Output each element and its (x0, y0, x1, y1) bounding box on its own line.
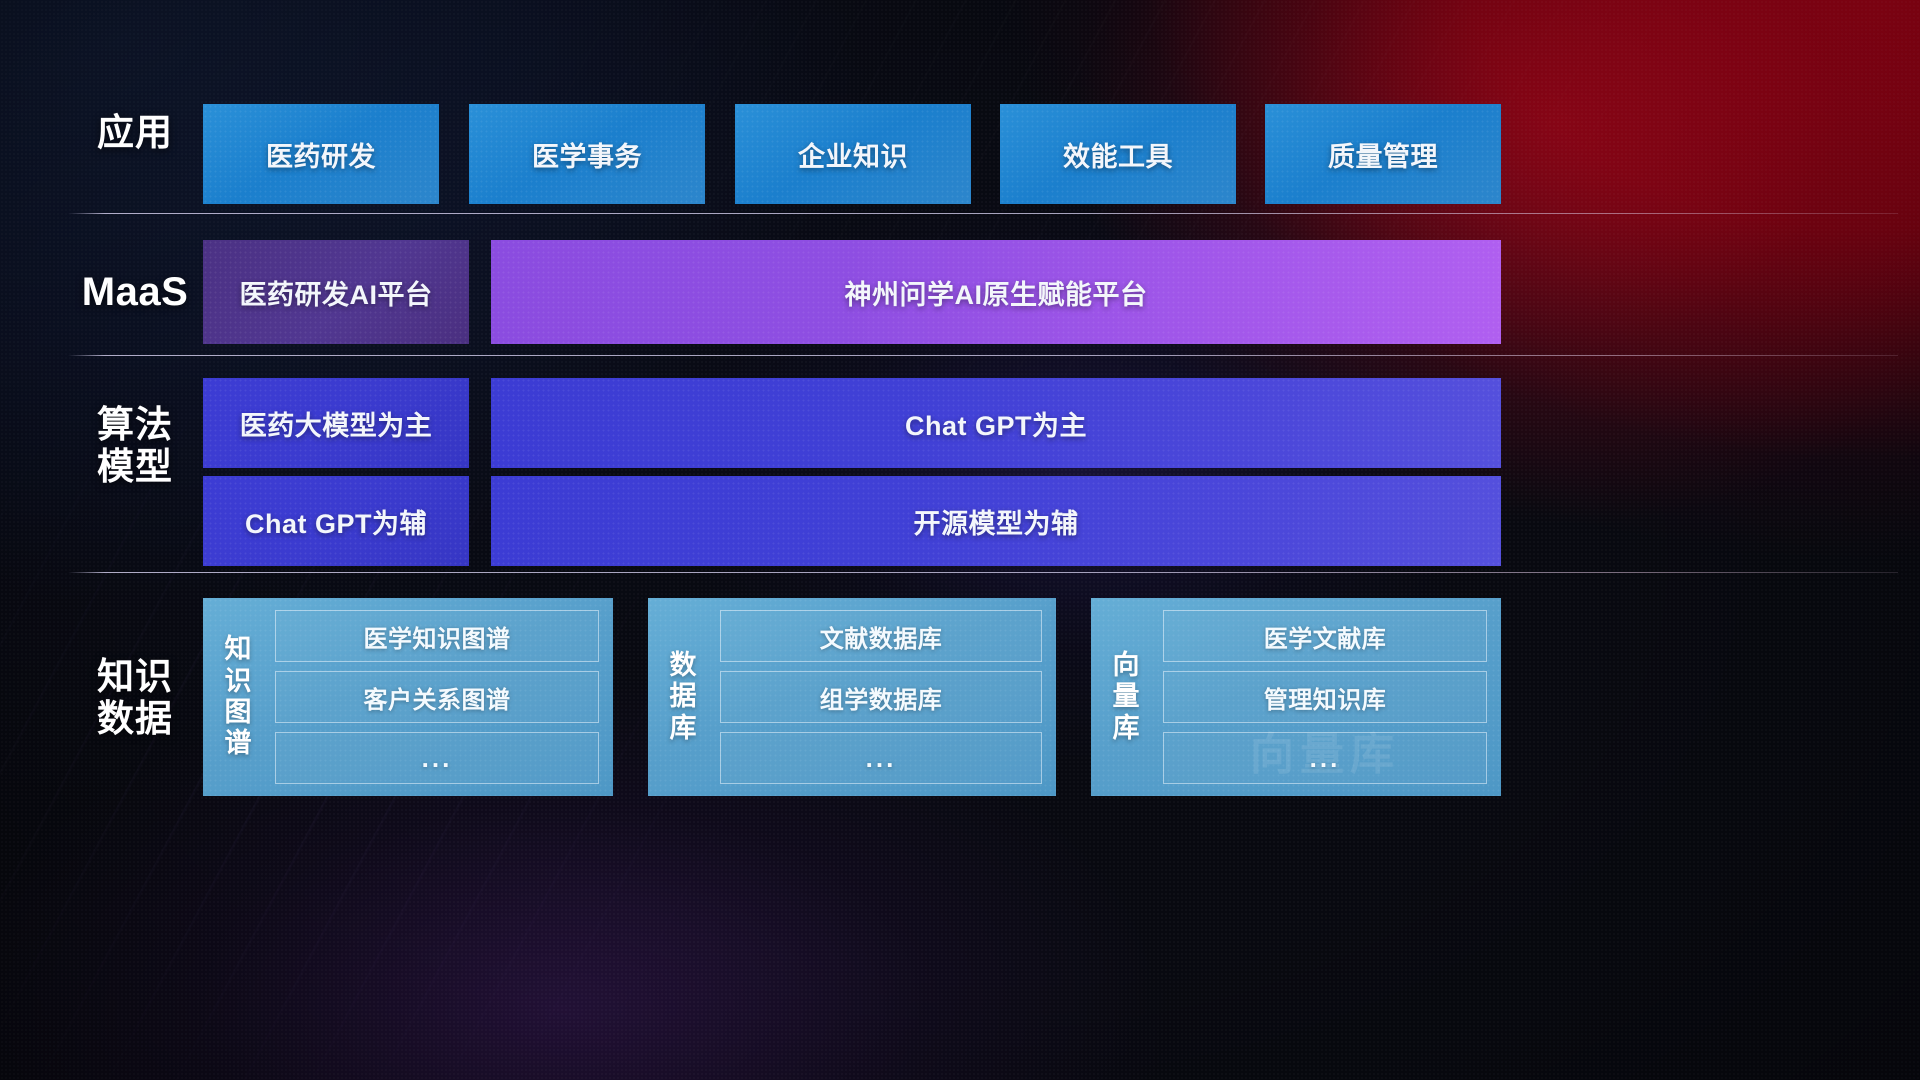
scenario-label-5: 质量管理 (1328, 135, 1438, 174)
row-divider-2 (68, 355, 1898, 356)
knowledge-group-title-2: 数 据 库 (660, 610, 706, 784)
row-divider-3 (68, 572, 1898, 573)
knowledge-group-items-3: 医学文献库 管理知识库 ... (1163, 610, 1487, 784)
maas-left-label: 医药研发AI平台 (240, 273, 433, 312)
maas-right-label: 神州问学AI原生赋能平台 (845, 273, 1148, 312)
scenario-label-3: 企业知识 (798, 135, 908, 174)
row-label-application-scenarios: 应用 (70, 112, 200, 154)
knowledge-item-2-1[interactable]: 文献数据库 (720, 610, 1042, 662)
scenario-box-3[interactable]: 企业知识 (735, 104, 971, 204)
scenario-box-2[interactable]: 医学事务 (469, 104, 705, 204)
scenario-label-4: 效能工具 (1063, 135, 1173, 174)
knowledge-item-3-1[interactable]: 医学文献库 (1163, 610, 1487, 662)
kg-title-char-3: 图 (225, 697, 252, 728)
knowledge-group-items-2: 文献数据库 组学数据库 ... (720, 610, 1042, 784)
algorithm-label-primary-left: 医药大模型为主 (240, 404, 433, 443)
kg-title-char-2: 识 (225, 666, 252, 697)
scenario-box-1[interactable]: 医药研发 (203, 104, 439, 204)
row-label-algorithm-model: 算法 模型 (70, 404, 200, 488)
row-label-maas: MaaS (70, 270, 200, 316)
vs-title-char-1: 向 (1113, 650, 1140, 681)
knowledge-group-knowledge-graph[interactable]: 知 识 图 谱 医学知识图谱 客户关系图谱 ... (203, 598, 613, 796)
knowledge-group-vector-store[interactable]: 向 量 库 医学文献库 管理知识库 ... (1091, 598, 1501, 796)
db-title-char-3: 库 (670, 713, 697, 744)
db-title-char-2: 据 (670, 681, 697, 712)
row-label-knowledge-line2: 数据 (70, 698, 200, 740)
knowledge-group-title-3: 向 量 库 (1103, 610, 1149, 784)
knowledge-item-2-3[interactable]: ... (720, 732, 1042, 784)
kg-title-char-4: 谱 (225, 728, 252, 759)
algorithm-label-secondary-left: Chat GPT为辅 (245, 502, 427, 541)
maas-platform-box-right[interactable]: 神州问学AI原生赋能平台 (491, 240, 1501, 344)
algorithm-box-primary-left[interactable]: 医药大模型为主 (203, 378, 469, 468)
architecture-diagram: 应用 医药研发 医学事务 企业知识 效能工具 质量管理 MaaS 医药研发AI平… (0, 0, 1920, 1080)
algorithm-label-secondary-right: 开源模型为辅 (914, 502, 1079, 541)
kg-title-char-1: 知 (225, 634, 252, 665)
scenario-box-4[interactable]: 效能工具 (1000, 104, 1236, 204)
knowledge-item-1-3[interactable]: ... (275, 732, 599, 784)
db-title-char-1: 数 (670, 650, 697, 681)
algorithm-box-primary-right[interactable]: Chat GPT为主 (491, 378, 1501, 468)
algorithm-label-primary-right: Chat GPT为主 (905, 404, 1087, 443)
scenario-box-5[interactable]: 质量管理 (1265, 104, 1501, 204)
vs-title-char-2: 量 (1113, 681, 1140, 712)
knowledge-item-3-2[interactable]: 管理知识库 (1163, 671, 1487, 723)
maas-platform-box-left[interactable]: 医药研发AI平台 (203, 240, 469, 344)
vs-title-char-3: 库 (1113, 713, 1140, 744)
row-label-algorithm-line2: 模型 (70, 446, 200, 488)
algorithm-box-secondary-left[interactable]: Chat GPT为辅 (203, 476, 469, 566)
knowledge-item-2-2[interactable]: 组学数据库 (720, 671, 1042, 723)
row-label-knowledge-line1: 知识 (70, 656, 200, 698)
row-label-knowledge-data: 知识 数据 (70, 656, 200, 740)
scenario-label-1: 医药研发 (266, 135, 376, 174)
row-divider-1 (68, 213, 1898, 214)
algorithm-box-secondary-right[interactable]: 开源模型为辅 (491, 476, 1501, 566)
knowledge-group-items-1: 医学知识图谱 客户关系图谱 ... (275, 610, 599, 784)
knowledge-item-3-3[interactable]: ... (1163, 732, 1487, 784)
knowledge-group-database[interactable]: 数 据 库 文献数据库 组学数据库 ... (648, 598, 1056, 796)
knowledge-item-1-1[interactable]: 医学知识图谱 (275, 610, 599, 662)
row-label-algorithm-line1: 算法 (70, 404, 200, 446)
knowledge-group-title-1: 知 识 图 谱 (215, 610, 261, 784)
knowledge-item-1-2[interactable]: 客户关系图谱 (275, 671, 599, 723)
scenario-label-2: 医学事务 (532, 135, 642, 174)
